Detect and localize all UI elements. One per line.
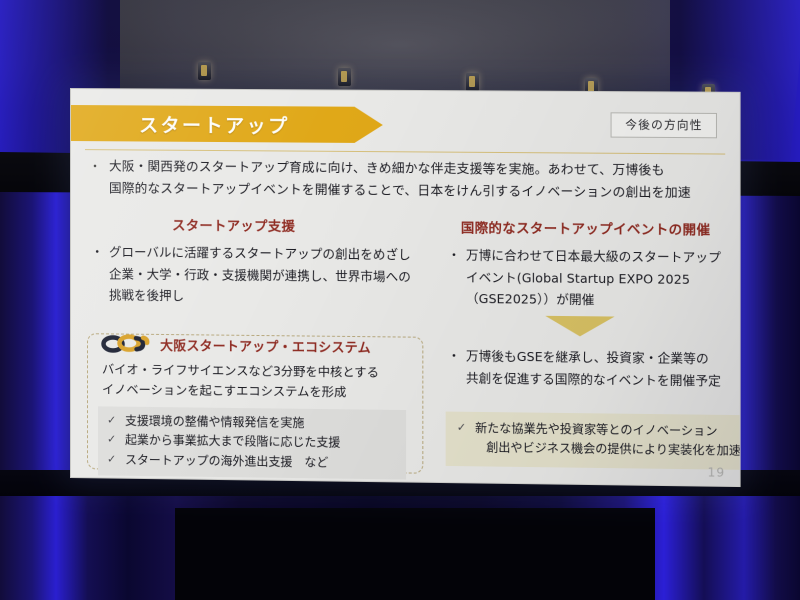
ecosystem-check-list: ✓ 支援環境の整備や情報発信を実施 ✓ 起業から事業拡大まで段階に応じた支援 ✓… bbox=[98, 406, 406, 479]
left-bullet-line-2: 企業・大学・行政・支援機関が連携し、世界市場への bbox=[109, 263, 419, 288]
bullet-marker: ・ bbox=[448, 345, 461, 367]
ecosystem-panel: 大阪スタートアップ・エコシステム バイオ・ライフサイエンスなど3分野を中核とする… bbox=[87, 333, 423, 474]
interlocking-loops-logo-icon bbox=[100, 330, 152, 357]
right-highlight-box: ✓ 新たな協業先や投資家等とのイノベーション 創出やビジネス機会の提供により実装… bbox=[446, 412, 741, 470]
left-section-heading: スタートアップ支援 bbox=[167, 214, 300, 237]
check-mark-icon: ✓ bbox=[457, 419, 466, 437]
left-bullet-line-3: 挑戦を後押し bbox=[109, 285, 419, 310]
slide-title: スタートアップ bbox=[139, 110, 290, 138]
bullet-marker: ・ bbox=[89, 156, 101, 177]
right-bullet: ・ 万博に合わせて日本最大級のスタートアップ イベント(Global Start… bbox=[444, 244, 736, 312]
check-mark-icon: ✓ bbox=[107, 431, 116, 449]
slide-title-banner: スタートアップ bbox=[71, 105, 383, 143]
check-mark-icon: ✓ bbox=[107, 450, 116, 468]
right-bullet-secondary: ・ 万博後もGSEを継承し、投資家・企業等の 共創を促進する国際的なイベントを開… bbox=[444, 345, 741, 392]
stage-podium bbox=[175, 508, 655, 600]
ecosystem-body: バイオ・ライフサイエンスなど3分野を中核とする イノベーションを起こすエコシステ… bbox=[102, 360, 412, 403]
right-bullet2-line-2: 共創を促進する国際的なイベントを開催予定 bbox=[466, 367, 741, 392]
right-section-heading: 国際的なスタートアップイベントの開催 bbox=[456, 216, 716, 240]
conference-room-photo: スタートアップ 今後の方向性 ・ 大阪・関西発のスタートアップ育成に向け、きめ細… bbox=[0, 0, 800, 600]
ceiling-lamp-icon bbox=[198, 62, 211, 80]
highlight-box-line-2-row: 創出やビジネス機会の提供により実装化を加速 bbox=[456, 438, 741, 461]
ceiling-lamp-icon bbox=[466, 73, 479, 91]
ecosystem-body-line-2: イノベーションを起こすエコシステムを形成 bbox=[102, 380, 412, 403]
right-bullet-line-1: 万博に合わせて日本最大級のスタートアップ bbox=[466, 244, 736, 268]
top-bullet-line-2: 国際的なスタートアップイベントを開催することで、日本をけん引するイノベーションの… bbox=[109, 177, 723, 204]
projection-screen: スタートアップ 今後の方向性 ・ 大阪・関西発のスタートアップ育成に向け、きめ細… bbox=[70, 88, 741, 487]
presentation-slide: スタートアップ 今後の方向性 ・ 大阪・関西発のスタートアップ育成に向け、きめ細… bbox=[70, 88, 741, 487]
check-item-text: スタートアップの海外進出支援 など bbox=[125, 452, 328, 469]
list-item: ✓ スタートアップの海外進出支援 など bbox=[106, 450, 398, 473]
check-item-text: 起業から事業拡大まで段階に応じた支援 bbox=[125, 433, 340, 450]
divider bbox=[85, 149, 725, 154]
ceiling-lamp-icon bbox=[338, 68, 351, 86]
left-bullet-line-1: グローバルに活躍するスタートアップの創出をめざし bbox=[109, 241, 419, 265]
check-mark-icon: ✓ bbox=[107, 411, 116, 429]
right-bullet-line-2: イベント(Global Startup EXPO 2025 bbox=[466, 266, 736, 290]
right-bullet-line-3: （GSE2025））が開催 bbox=[466, 288, 736, 312]
left-bullet: ・ グローバルに活躍するスタートアップの創出をめざし 企業・大学・行政・支援機関… bbox=[87, 241, 419, 309]
check-item-text: 支援環境の整備や情報発信を実施 bbox=[125, 414, 304, 430]
status-badge: 今後の方向性 bbox=[611, 112, 717, 138]
ecosystem-title: 大阪スタートアップ・エコシステム bbox=[160, 335, 371, 356]
down-arrow-icon bbox=[545, 316, 614, 337]
top-bullet: ・ 大阪・関西発のスタートアップ育成に向け、きめ細かな伴走支援等を実施。あわせて… bbox=[89, 155, 723, 203]
right-column: ・ 万博に合わせて日本最大級のスタートアップ イベント(Global Start… bbox=[444, 244, 736, 312]
bullet-marker: ・ bbox=[448, 244, 461, 266]
bullet-marker: ・ bbox=[91, 241, 104, 263]
highlight-box-line-2: 創出やビジネス機会の提供により実装化を加速 bbox=[486, 441, 740, 458]
page-number: 19 bbox=[707, 465, 725, 479]
highlight-box-line-1: 新たな協業先や投資家等とのイノベーション bbox=[475, 421, 717, 438]
left-column: ・ グローバルに活躍するスタートアップの創出をめざし 企業・大学・行政・支援機関… bbox=[87, 241, 419, 309]
right-bullet2-line-1: 万博後もGSEを継承し、投資家・企業等の bbox=[466, 345, 741, 370]
